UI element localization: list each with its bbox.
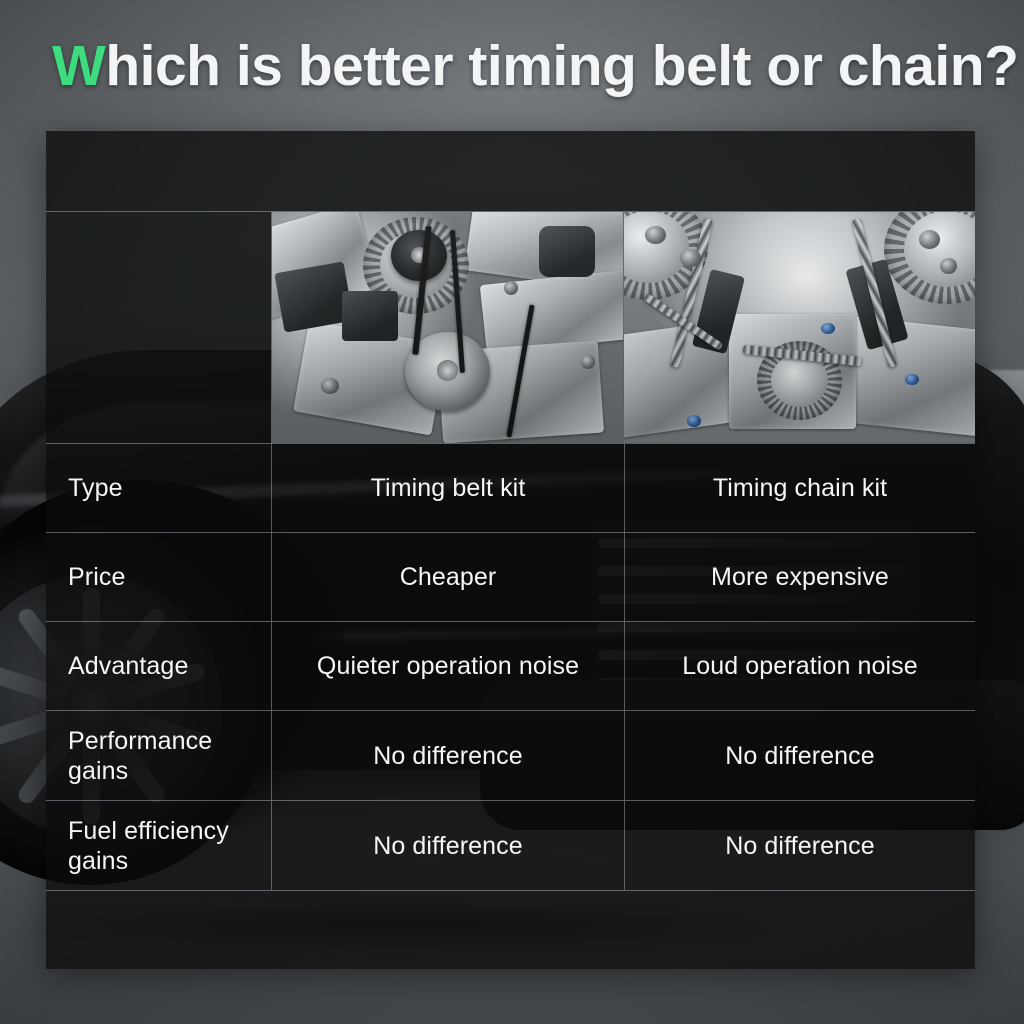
table-row: Performance gains No difference No diffe…	[46, 711, 975, 800]
media-row-label-cell	[46, 212, 271, 443]
row-label: Price	[46, 533, 271, 621]
row-label: Type	[46, 444, 271, 532]
table-bottom-band	[46, 891, 975, 969]
row-label: Performance gains	[46, 711, 271, 800]
row-chain-value: No difference	[625, 801, 975, 890]
timing-belt-image	[272, 212, 623, 443]
row-chain-value: Loud operation noise	[625, 622, 975, 710]
table-row: Type Timing belt kit Timing chain kit	[46, 444, 975, 532]
row-belt-value: Quieter operation noise	[272, 622, 624, 710]
top-band-right	[623, 131, 975, 211]
top-band-mid	[271, 131, 623, 211]
table-row: Price Cheaper More expensive	[46, 533, 975, 621]
timing-chain-engine-photo	[624, 212, 975, 443]
title-rest: hich is better timing belt or chain?	[105, 34, 1018, 98]
row-chain-value: More expensive	[625, 533, 975, 621]
row-label: Advantage	[46, 622, 271, 710]
table-row: Advantage Quieter operation noise Loud o…	[46, 622, 975, 710]
row-label: Fuel efficiency gains	[46, 801, 271, 890]
row-chain-value: No difference	[625, 711, 975, 800]
table-media-row	[46, 212, 975, 443]
row-chain-value: Timing chain kit	[625, 444, 975, 532]
row-belt-value: No difference	[272, 801, 624, 890]
row-belt-value: Timing belt kit	[272, 444, 624, 532]
row-belt-value: Cheaper	[272, 533, 624, 621]
infographic-canvas: Which is better timing belt or chain?	[0, 0, 1024, 1024]
table-row: Fuel efficiency gains No difference No d…	[46, 801, 975, 890]
row-belt-value: No difference	[272, 711, 624, 800]
page-title: Which is better timing belt or chain?	[52, 34, 992, 98]
comparison-table: Type Timing belt kit Timing chain kit Pr…	[46, 131, 975, 969]
timing-belt-engine-photo	[272, 212, 623, 443]
title-highlight-letter: W	[52, 34, 105, 98]
timing-chain-image	[624, 212, 975, 443]
top-band-left	[46, 131, 271, 211]
table-top-band	[46, 131, 975, 211]
